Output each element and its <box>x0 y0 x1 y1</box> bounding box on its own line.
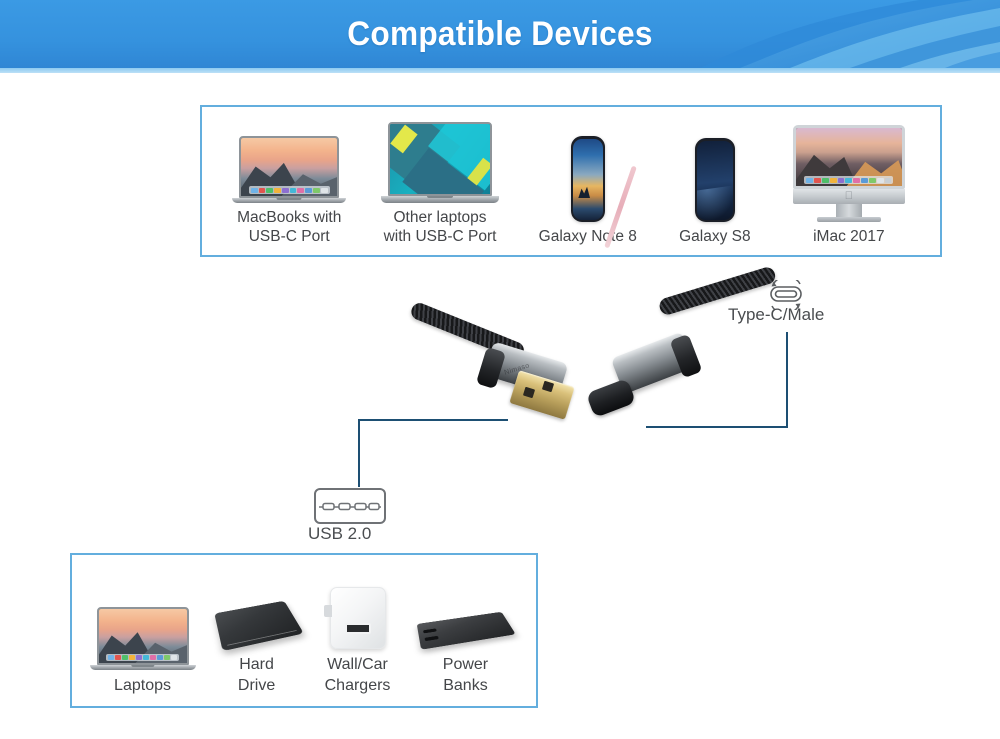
usb-c-connector-housing <box>611 332 696 395</box>
device-label: iMac 2017 <box>813 227 885 246</box>
usb-callout-label: USB 2.0 <box>308 524 371 544</box>
banner-underline <box>0 68 1000 73</box>
usb-c-male-plug <box>586 378 636 418</box>
device-item-other-laptop: Other laptops with USB-C Port <box>384 122 497 246</box>
type-c-callout-label: Type-C/Male <box>728 305 824 325</box>
external-hard-drive-icon <box>218 587 296 649</box>
bottom-compatible-devices-box: Laptops Hard Drive Wall/Car Chargers Pow… <box>70 553 538 708</box>
device-item-macbook: MacBooks with USB-C Port <box>237 136 341 246</box>
chromebook-laptop-icon <box>388 122 492 203</box>
macbook-laptop-icon <box>239 136 339 203</box>
device-item-imac:  iMac 2017 <box>793 125 905 246</box>
device-label: MacBooks with USB-C Port <box>237 208 341 246</box>
galaxy-s8-phone-icon <box>695 138 735 222</box>
apple-logo-icon:  <box>845 191 853 202</box>
usb-2-port-icon <box>313 487 387 525</box>
top-compatible-devices-box: MacBooks with USB-C Port Other laptops w… <box>200 105 942 257</box>
device-item-power-bank: Power Banks <box>419 591 511 696</box>
leader-line-typec-horizontal <box>646 426 788 428</box>
leader-line-usb-vertical <box>358 419 360 487</box>
device-item-laptops: Laptops <box>97 607 189 696</box>
device-label: Hard Drive <box>238 654 275 696</box>
device-label: Galaxy S8 <box>679 227 751 246</box>
macbook-laptop-icon <box>97 607 189 670</box>
device-item-wall-charger: Wall/Car Chargers <box>325 583 391 696</box>
imac-desktop-icon:  <box>793 125 905 222</box>
device-item-galaxy-s8: Galaxy S8 <box>679 138 751 246</box>
device-label: Wall/Car Chargers <box>325 654 391 696</box>
header-banner: Compatible Devices <box>0 0 1000 68</box>
usb-a-connector-collar <box>476 347 506 389</box>
power-bank-icon <box>419 591 511 649</box>
device-label: Other laptops with USB-C Port <box>384 208 497 246</box>
wall-charger-icon <box>330 583 386 649</box>
usb-a-plug-cutout <box>542 381 554 393</box>
device-label: Power Banks <box>443 654 488 696</box>
cable-braided-cord-left <box>409 301 527 362</box>
device-item-hard-drive: Hard Drive <box>218 587 296 696</box>
cable-brand-text: Nimaso <box>504 362 531 376</box>
galaxy-note8-phone-icon <box>571 136 605 222</box>
usb-a-plug-cutout <box>523 387 535 399</box>
usb-a-male-plug <box>509 370 574 419</box>
usb-c-connector-collar <box>669 334 702 379</box>
leader-line-typec-vertical <box>786 332 788 428</box>
device-label: Galaxy Note 8 <box>539 227 637 246</box>
device-label: Laptops <box>114 675 171 696</box>
usb-a-connector-housing <box>484 341 569 397</box>
page-title: Compatible Devices <box>35 0 965 68</box>
device-item-galaxy-note8: Galaxy Note 8 <box>539 136 637 246</box>
leader-line-usb-horizontal <box>358 419 508 421</box>
